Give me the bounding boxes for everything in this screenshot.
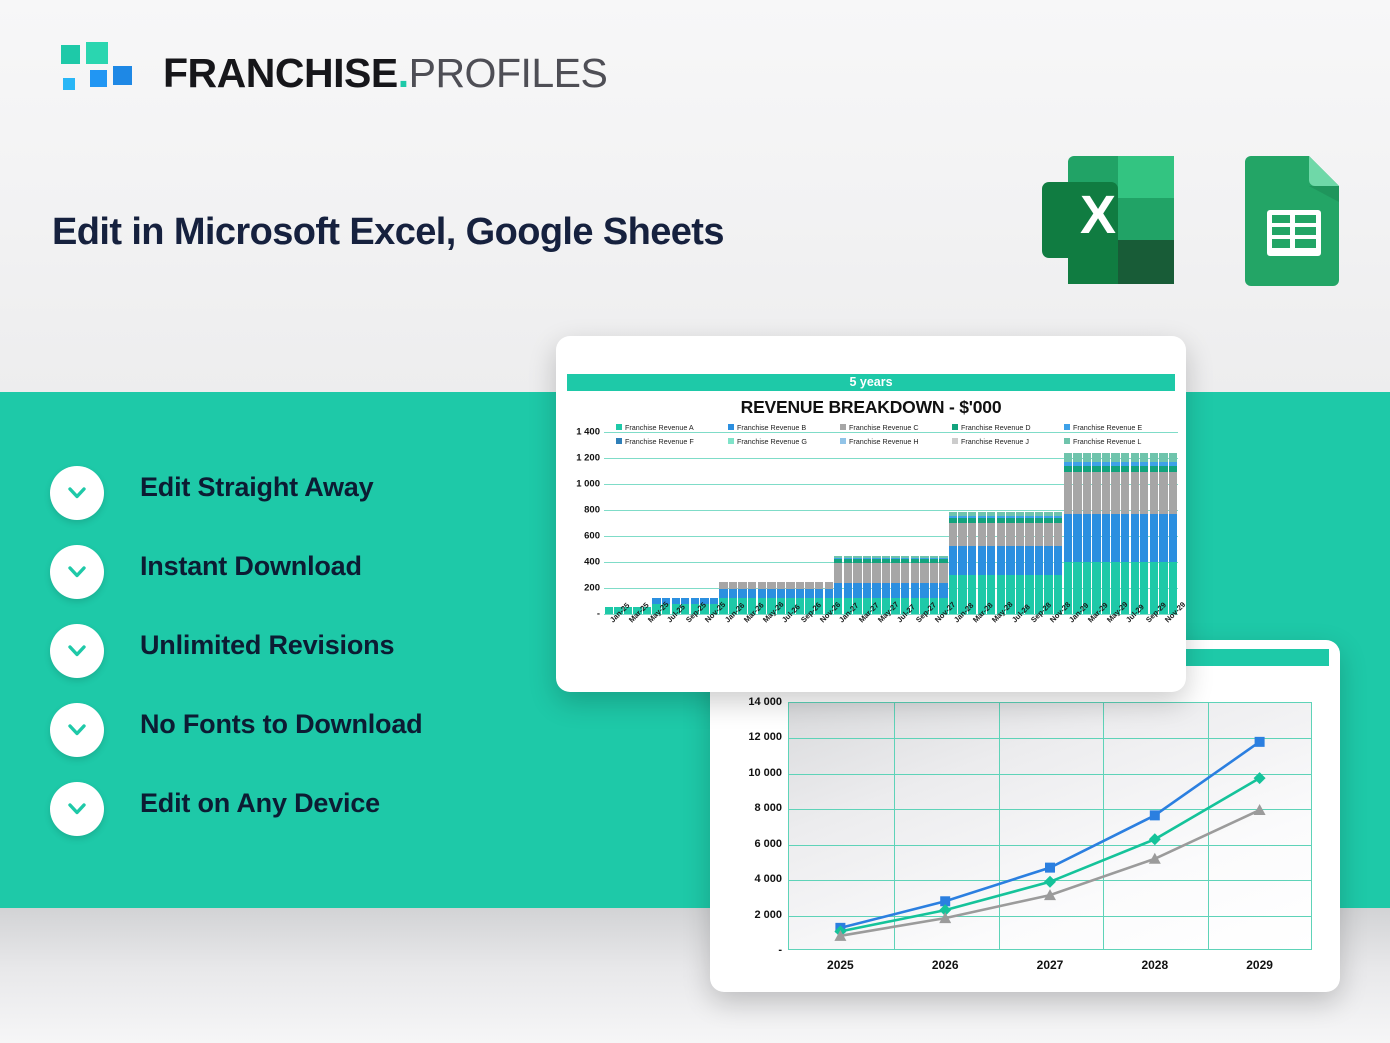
bar-segment — [1131, 514, 1139, 562]
bar-segment — [738, 582, 746, 590]
bar-segment — [1102, 472, 1110, 514]
bar-segment — [767, 589, 775, 598]
bar-segment — [1102, 514, 1110, 562]
feature-label: Edit on Any Device — [140, 788, 380, 819]
front-y-tick: 400 — [584, 557, 600, 568]
back-chart-x-axis: 20252026202720282029 — [788, 956, 1312, 978]
feature-item-4[interactable]: Edit on Any Device — [50, 782, 520, 861]
bar-segment — [1083, 514, 1091, 562]
front-legend-swatch — [840, 424, 846, 430]
front-legend-label: Franchise Revenue E — [1073, 423, 1142, 432]
bar-segment — [930, 583, 938, 599]
bar-column — [958, 512, 966, 614]
bar-segment — [1006, 546, 1014, 575]
bar-segment — [1073, 514, 1081, 562]
bar-segment — [891, 583, 899, 599]
chevron-down-icon — [50, 703, 104, 757]
microsoft-excel-icon[interactable]: X — [1040, 152, 1178, 288]
bar-column — [987, 512, 995, 614]
front-legend-swatch — [616, 424, 622, 430]
bar-segment — [825, 582, 833, 590]
bar-segment — [796, 589, 804, 598]
feature-list: Edit Straight AwayInstant DownloadUnlimi… — [50, 466, 520, 861]
bar-segment — [882, 563, 890, 583]
feature-item-3[interactable]: No Fonts to Download — [50, 703, 520, 782]
bar-segment — [1064, 453, 1072, 462]
bar-segment — [1054, 546, 1062, 575]
bar-segment — [729, 582, 737, 590]
bar-segment — [901, 583, 909, 599]
bar-segment — [758, 582, 766, 590]
chevron-down-icon — [50, 466, 104, 520]
bar-segment — [1159, 453, 1167, 462]
bar-segment — [891, 563, 899, 583]
chevron-down-icon — [50, 782, 104, 836]
google-sheets-icon[interactable] — [1243, 152, 1343, 288]
bar-segment — [911, 563, 919, 583]
logo-square-1 — [61, 45, 80, 64]
bar-segment — [1111, 472, 1119, 514]
bar-segment — [729, 589, 737, 598]
back-y-tick: 2 000 — [754, 909, 782, 921]
front-y-tick: 1 400 — [576, 427, 600, 438]
bar-segment — [949, 546, 957, 575]
bar-segment — [825, 589, 833, 598]
front-card-banner: 5 years — [567, 374, 1175, 391]
back-data-marker — [1254, 772, 1266, 784]
bar-segment — [767, 582, 775, 590]
bar-segment — [1073, 472, 1081, 514]
bar-segment — [844, 563, 852, 583]
bar-segment — [1150, 514, 1158, 562]
bar-segment — [1064, 472, 1072, 514]
bar-segment — [1016, 546, 1024, 575]
back-y-tick: 10 000 — [748, 767, 782, 779]
front-y-tick: 1 000 — [576, 479, 600, 490]
bar-column — [1159, 453, 1167, 614]
back-y-tick: 14 000 — [748, 696, 782, 708]
bar-segment — [920, 563, 928, 583]
bar-column — [1121, 453, 1129, 614]
bar-segment — [1035, 523, 1043, 546]
front-chart-title: REVENUE BREAKDOWN - $'000 — [556, 397, 1186, 418]
bar-segment — [949, 523, 957, 546]
back-x-label: 2029 — [1246, 958, 1273, 972]
page-title: Edit in Microsoft Excel, Google Sheets — [52, 211, 724, 254]
bar-segment — [939, 583, 947, 599]
bar-segment — [1169, 514, 1177, 562]
bar-segment — [1092, 453, 1100, 462]
bar-segment — [853, 563, 861, 583]
front-y-tick: 800 — [584, 505, 600, 516]
front-legend-swatch — [728, 424, 734, 430]
front-legend-swatch — [952, 424, 958, 430]
bar-column — [1102, 453, 1110, 614]
bar-segment — [748, 589, 756, 598]
feature-label: Instant Download — [140, 551, 362, 582]
bar-segment — [748, 582, 756, 590]
bar-segment — [958, 523, 966, 546]
bar-segment — [968, 523, 976, 546]
bar-segment — [1131, 453, 1139, 462]
bar-segment — [786, 589, 794, 598]
bar-segment — [1159, 514, 1167, 562]
bar-segment — [1111, 453, 1119, 462]
bar-segment — [1083, 472, 1091, 514]
feature-item-2[interactable]: Unlimited Revisions — [50, 624, 520, 703]
back-data-marker — [1149, 853, 1161, 864]
bar-segment — [815, 589, 823, 598]
bar-segment — [815, 582, 823, 590]
bar-column — [949, 512, 957, 614]
bar-segment — [968, 546, 976, 575]
front-y-tick: 1 200 — [576, 453, 600, 464]
bar-segment — [805, 589, 813, 598]
bar-segment — [1121, 453, 1129, 462]
chevron-down-icon — [50, 545, 104, 599]
bar-segment — [834, 563, 842, 583]
front-chart-plot-area — [604, 432, 1178, 614]
bar-segment — [1035, 546, 1043, 575]
back-data-marker — [1044, 876, 1056, 888]
bar-segment — [1092, 472, 1100, 514]
bar-segment — [1169, 453, 1177, 462]
logo-word-light: PROFILES — [409, 50, 608, 96]
back-chart-plot-area — [788, 702, 1312, 950]
logo-square-3 — [90, 70, 107, 87]
bar-segment — [844, 583, 852, 599]
bar-segment — [1140, 453, 1148, 462]
front-chart-y-axis: -2004006008001 0001 2001 400 — [556, 426, 600, 616]
bar-segment — [978, 546, 986, 575]
bar-segment — [1121, 514, 1129, 562]
logo-word-bold: FRANCHISE — [163, 50, 398, 96]
bar-segment — [1064, 514, 1072, 562]
bar-segment — [805, 582, 813, 590]
bar-segment — [997, 523, 1005, 546]
back-y-tick: 6 000 — [754, 838, 782, 850]
chevron-down-icon — [50, 624, 104, 678]
bar-column — [978, 512, 986, 614]
bar-segment — [1083, 453, 1091, 462]
bar-segment — [1131, 472, 1139, 514]
front-bars — [604, 432, 1178, 614]
logo-square-5 — [63, 78, 75, 90]
bar-segment — [987, 546, 995, 575]
bar-column — [1092, 453, 1100, 614]
bar-segment — [1140, 514, 1148, 562]
bar-column — [968, 512, 976, 614]
bar-segment — [1140, 472, 1148, 514]
bar-column — [1111, 453, 1119, 614]
bar-segment — [1044, 546, 1052, 575]
front-y-tick: - — [597, 609, 600, 620]
bar-column — [1064, 453, 1072, 614]
front-y-tick: 200 — [584, 583, 600, 594]
bar-column — [1044, 512, 1052, 614]
bar-segment — [1025, 523, 1033, 546]
bar-column — [1083, 453, 1091, 614]
bar-segment — [1054, 523, 1062, 546]
bar-column — [1131, 453, 1139, 614]
bar-segment — [882, 583, 890, 599]
bar-segment — [719, 582, 727, 590]
bar-segment — [872, 583, 880, 599]
bar-column — [1016, 512, 1024, 614]
bar-column — [1054, 512, 1062, 614]
bar-segment — [796, 582, 804, 590]
back-data-marker — [1149, 833, 1161, 845]
logo-square-2 — [86, 42, 108, 64]
front-legend-label: Franchise Revenue D — [961, 423, 1031, 432]
back-y-tick: 12 000 — [748, 731, 782, 743]
back-x-label: 2026 — [932, 958, 959, 972]
front-chart-x-axis: Jan-25Mar-25May-25Jul-25Sep-25Nov-25Jan-… — [604, 616, 1178, 676]
bar-segment — [777, 589, 785, 598]
bar-segment — [1121, 472, 1129, 514]
back-y-tick: - — [778, 944, 782, 956]
bar-segment — [758, 589, 766, 598]
bar-segment — [853, 583, 861, 599]
bar-segment — [1025, 546, 1033, 575]
back-data-marker — [1254, 804, 1266, 815]
svg-text:X: X — [1080, 185, 1116, 245]
bar-column — [1025, 512, 1033, 614]
back-y-tick: 4 000 — [754, 873, 782, 885]
brand-logo[interactable]: FRANCHISE.PROFILES — [45, 42, 565, 104]
bar-segment — [834, 583, 842, 599]
bar-segment — [1111, 514, 1119, 562]
bar-segment — [719, 589, 727, 598]
back-data-marker — [1150, 810, 1160, 820]
bar-segment — [1102, 453, 1110, 462]
bar-segment — [863, 583, 871, 599]
bar-column — [1150, 453, 1158, 614]
bar-column — [1140, 453, 1148, 614]
profitability-summary-card[interactable]: ber 2029 oss Margin -2 0004 0006 0008 00… — [710, 640, 1340, 992]
bar-segment — [1044, 523, 1052, 546]
bar-segment — [1150, 453, 1158, 462]
front-legend-swatch — [1064, 424, 1070, 430]
feature-label: Unlimited Revisions — [140, 630, 394, 661]
bar-segment — [1169, 472, 1177, 514]
bar-column — [1073, 453, 1081, 614]
back-line-diamond — [840, 778, 1259, 931]
bar-column — [997, 512, 1005, 614]
feature-item-0[interactable]: Edit Straight Away — [50, 466, 520, 545]
bar-segment — [872, 563, 880, 583]
bar-segment — [863, 563, 871, 583]
front-legend-label: Franchise Revenue A — [625, 423, 694, 432]
feature-label: Edit Straight Away — [140, 472, 373, 503]
bar-segment — [939, 563, 947, 583]
bar-column — [1169, 453, 1177, 614]
front-legend-label: Franchise Revenue B — [737, 423, 806, 432]
logo-square-4 — [113, 66, 132, 85]
bar-segment — [1073, 453, 1081, 462]
bar-segment — [1006, 523, 1014, 546]
bar-segment — [1159, 472, 1167, 514]
bar-segment — [920, 583, 928, 599]
back-data-marker — [1045, 863, 1055, 873]
back-line-triangle — [840, 810, 1259, 936]
bar-segment — [786, 582, 794, 590]
feature-item-1[interactable]: Instant Download — [50, 545, 520, 624]
bar-segment — [958, 546, 966, 575]
bar-segment — [987, 523, 995, 546]
back-data-marker — [1255, 737, 1265, 747]
bar-segment — [777, 582, 785, 590]
revenue-breakdown-card[interactable]: 5 years REVENUE BREAKDOWN - $'000 Franch… — [556, 336, 1186, 692]
back-x-label: 2025 — [827, 958, 854, 972]
front-y-tick: 600 — [584, 531, 600, 542]
back-x-label: 2028 — [1141, 958, 1168, 972]
bar-segment — [978, 523, 986, 546]
logo-wordmark: FRANCHISE.PROFILES — [163, 44, 607, 102]
bar-segment — [1092, 514, 1100, 562]
bar-segment — [997, 546, 1005, 575]
logo-dot: . — [398, 50, 409, 96]
bar-segment — [738, 589, 746, 598]
back-y-tick: 8 000 — [754, 802, 782, 814]
front-legend-label: Franchise Revenue C — [849, 423, 919, 432]
bar-segment — [930, 563, 938, 583]
back-chart-series — [788, 702, 1312, 950]
bar-segment — [1016, 523, 1024, 546]
back-x-label: 2027 — [1037, 958, 1064, 972]
feature-label: No Fonts to Download — [140, 709, 422, 740]
bar-column — [1035, 512, 1043, 614]
bar-segment — [1150, 472, 1158, 514]
bar-segment — [911, 583, 919, 599]
bar-segment — [901, 563, 909, 583]
back-chart-y-axis: -2 0004 0006 0008 00010 00012 00014 000 — [720, 702, 782, 950]
